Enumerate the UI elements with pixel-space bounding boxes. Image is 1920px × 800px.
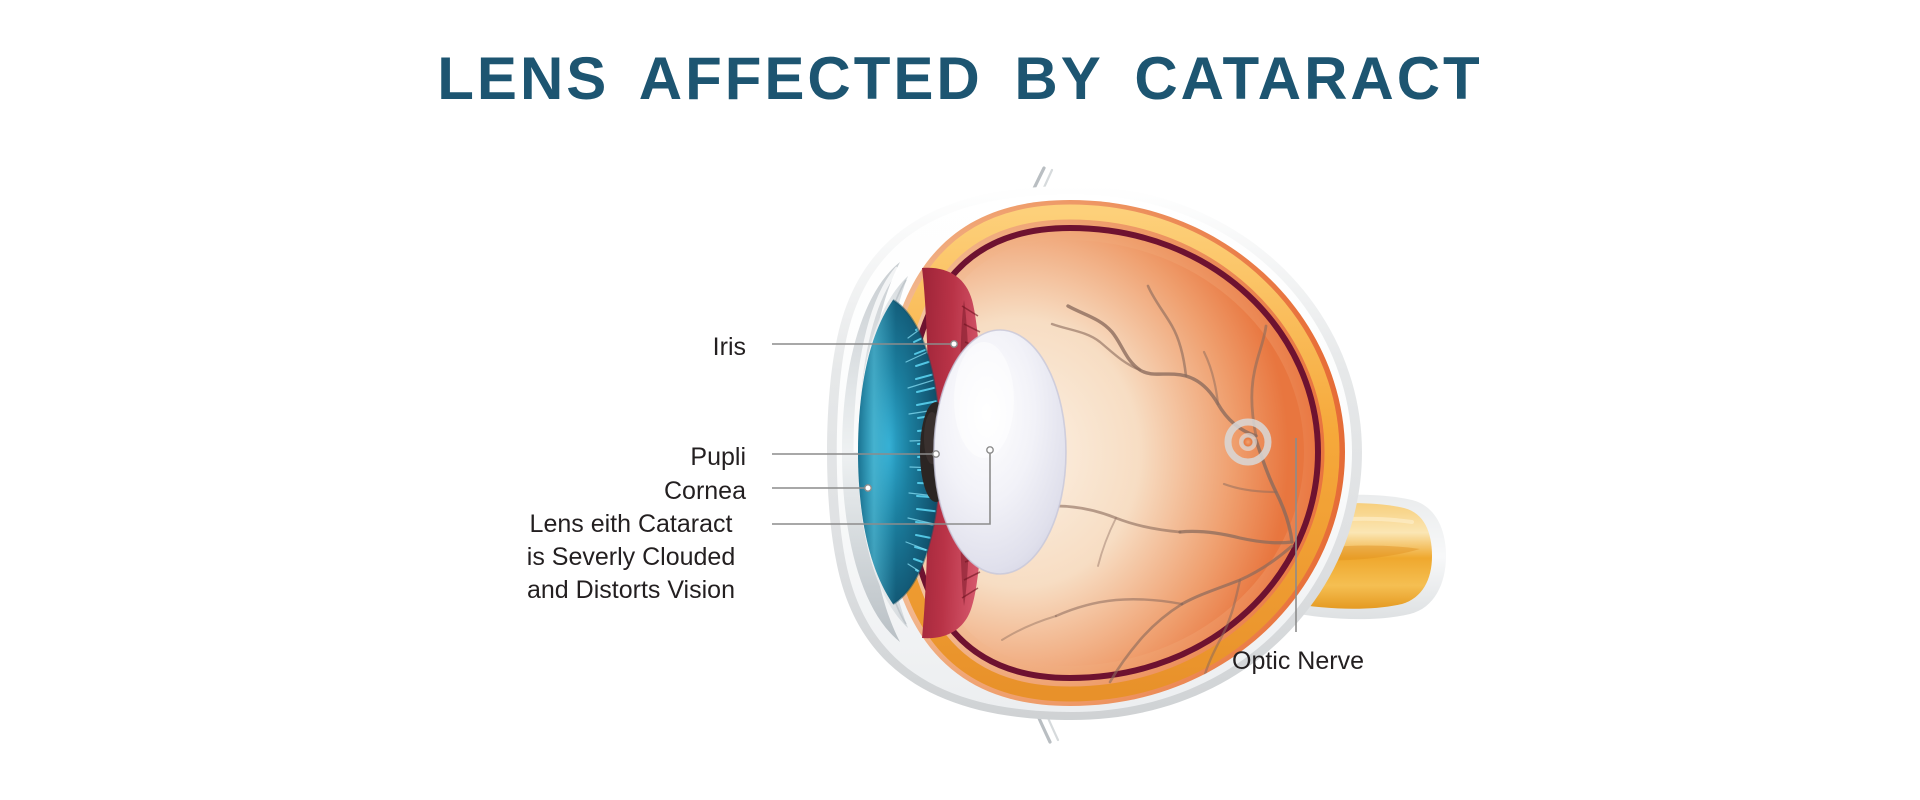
leader-dot-pupil (933, 451, 939, 457)
label-lens-line-3: and Distorts Vision (516, 574, 746, 607)
label-pupil: Pupli (690, 441, 746, 474)
eye-cross-section-graphic (0, 0, 1920, 800)
label-lens-with-cataract: Lens eith Cataract is Severly Clouded an… (516, 508, 746, 607)
leader-dot-lens (987, 447, 993, 453)
label-lens-line-2: is Severly Clouded (516, 541, 746, 574)
label-lens-line-1: Lens eith Cataract (516, 508, 746, 541)
eye-diagram: Iris Pupli Cornea Lens eith Cataract is … (0, 0, 1920, 800)
label-iris: Iris (713, 331, 746, 364)
illustration-canvas: LENS AFFECTED BY CATARACT (0, 0, 1920, 800)
label-optic-nerve: Optic Nerve (1232, 645, 1364, 678)
lens-opacity-highlight (954, 342, 1014, 458)
leader-dot-iris (951, 341, 957, 347)
label-cornea: Cornea (664, 475, 746, 508)
leader-dot-cornea (865, 485, 871, 491)
